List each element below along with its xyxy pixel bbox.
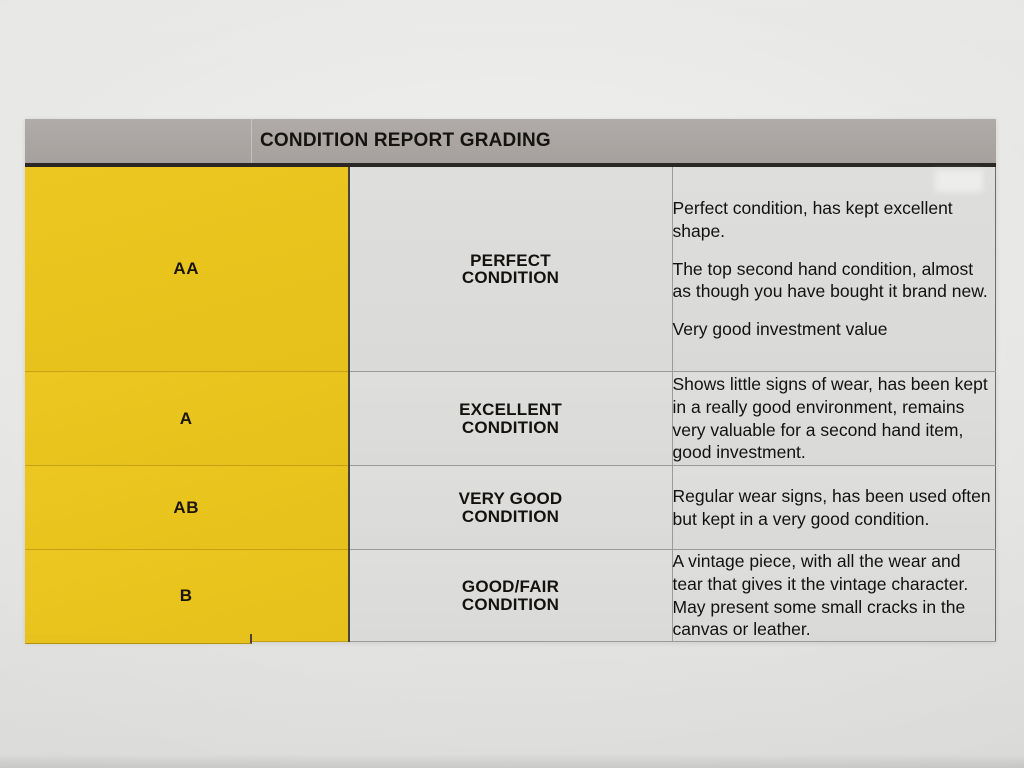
condition-name-line2: CONDITION bbox=[350, 506, 672, 533]
grade-cell-ab: AB bbox=[25, 466, 349, 550]
description-list: Perfect condition, has kept excellent sh… bbox=[673, 197, 996, 341]
table-header-row: CONDITION REPORT GRADING bbox=[25, 119, 996, 165]
condition-name-line2: CONDITION bbox=[350, 594, 672, 621]
condition-cell-ab: VERY GOOD CONDITION bbox=[349, 466, 673, 550]
description-paragraph: Shows little signs of wear, has been kep… bbox=[673, 373, 996, 464]
grade-label: B bbox=[180, 586, 193, 605]
grade-cell-b: B bbox=[25, 550, 349, 642]
description-cell-b: A vintage piece, with all the wear and t… bbox=[672, 550, 996, 642]
header-column-divider bbox=[251, 119, 252, 163]
table-row: AA PERFECT CONDITION Perfect condition, … bbox=[25, 165, 996, 372]
grade-cell-aa: AA bbox=[25, 165, 349, 372]
condition-name-line2: CONDITION bbox=[350, 267, 672, 294]
description-paragraph: The top second hand condition, almost as… bbox=[673, 258, 996, 304]
description-paragraph: A vintage piece, with all the wear and t… bbox=[673, 550, 996, 641]
table-row: B GOOD/FAIR CONDITION A vintage piece, w… bbox=[25, 550, 996, 642]
grade-cell-a: A bbox=[25, 372, 349, 466]
grade-label: AA bbox=[173, 259, 199, 278]
condition-name-line2: CONDITION bbox=[350, 417, 672, 444]
description-list: Shows little signs of wear, has been kep… bbox=[673, 373, 996, 464]
description-paragraph: Perfect condition, has kept excellent sh… bbox=[673, 197, 996, 243]
description-cell-ab: Regular wear signs, has been used often … bbox=[672, 466, 996, 550]
table-row: A EXCELLENT CONDITION Shows little signs… bbox=[25, 372, 996, 466]
table-body: AA PERFECT CONDITION Perfect condition, … bbox=[25, 165, 996, 642]
grade-label: A bbox=[180, 409, 193, 428]
table-title-cell: CONDITION REPORT GRADING bbox=[25, 119, 996, 165]
table-header: CONDITION REPORT GRADING bbox=[25, 119, 996, 165]
description-paragraph: Very good investment value bbox=[673, 318, 996, 341]
description-list: Regular wear signs, has been used often … bbox=[673, 485, 996, 531]
condition-cell-a: EXCELLENT CONDITION bbox=[349, 372, 673, 466]
grade-label: AB bbox=[173, 498, 199, 517]
description-list: A vintage piece, with all the wear and t… bbox=[673, 550, 996, 641]
description-cell-aa: Perfect condition, has kept excellent sh… bbox=[672, 165, 996, 372]
condition-cell-b: GOOD/FAIR CONDITION bbox=[349, 550, 673, 642]
description-cell-a: Shows little signs of wear, has been kep… bbox=[672, 372, 996, 466]
condition-cell-aa: PERFECT CONDITION bbox=[349, 165, 673, 372]
table-row: AB VERY GOOD CONDITION Regular wear sign… bbox=[25, 466, 996, 550]
description-paragraph: Regular wear signs, has been used often … bbox=[673, 485, 996, 531]
grade-column-print-overhang bbox=[25, 634, 252, 644]
condition-report-grading-table: CONDITION REPORT GRADING AA PERFECT COND… bbox=[25, 119, 996, 642]
page-title: CONDITION REPORT GRADING bbox=[25, 119, 996, 163]
